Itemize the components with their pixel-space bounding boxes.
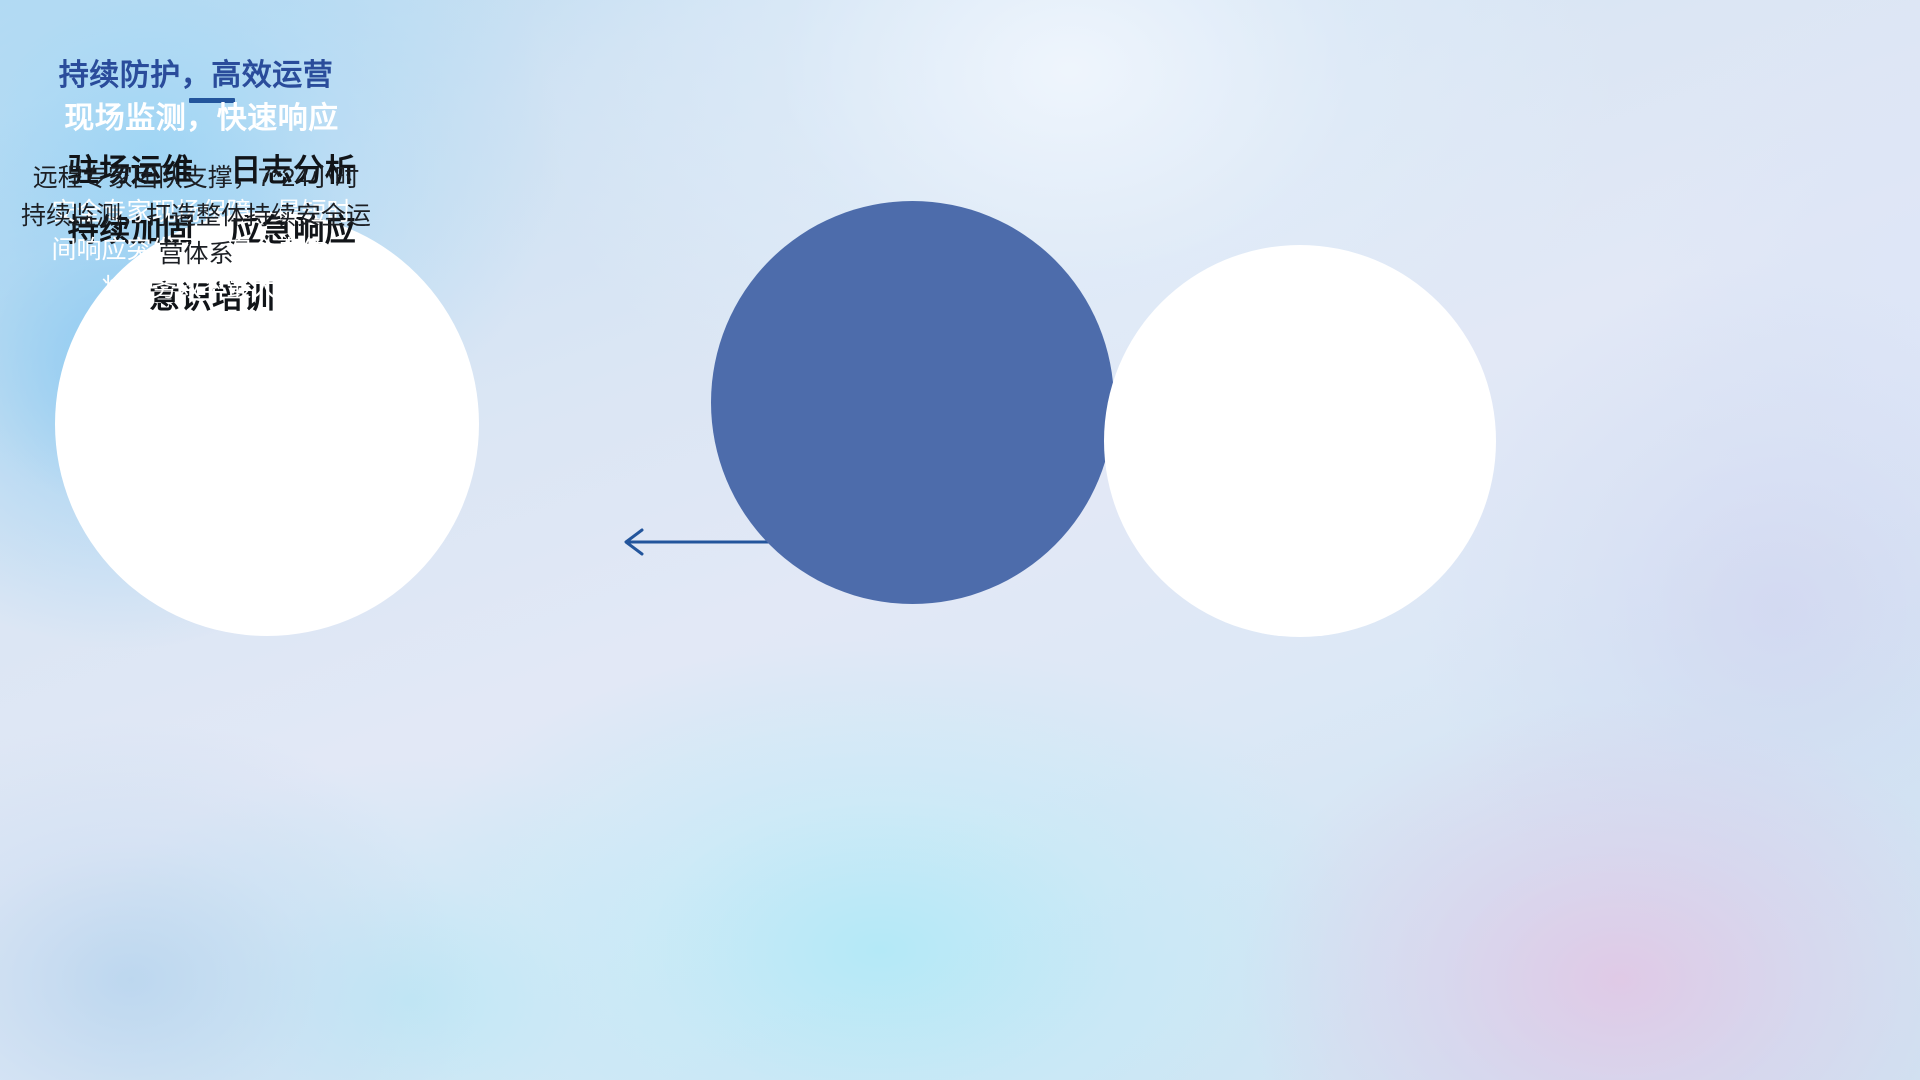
right-circle-title: 持续防护，高效运营 <box>59 50 334 94</box>
slide-canvas: 驻场运维 日志分析 持续加固 应急响应 意识培训 现场监测，快速响应 安全专家现… <box>0 0 1920 1080</box>
middle-monitoring-circle[interactable] <box>711 201 1114 604</box>
middle-circle-fill <box>711 201 1114 604</box>
right-operations-circle[interactable] <box>1104 245 1496 637</box>
right-circle-body: 远程专家团队支撑，7*24小时持续监测，打造整体持续安全运营体系 <box>21 159 371 273</box>
right-circle-content: 持续防护，高效运营 远程专家团队支撑，7*24小时持续监测，打造整体持续安全运营… <box>0 0 392 392</box>
